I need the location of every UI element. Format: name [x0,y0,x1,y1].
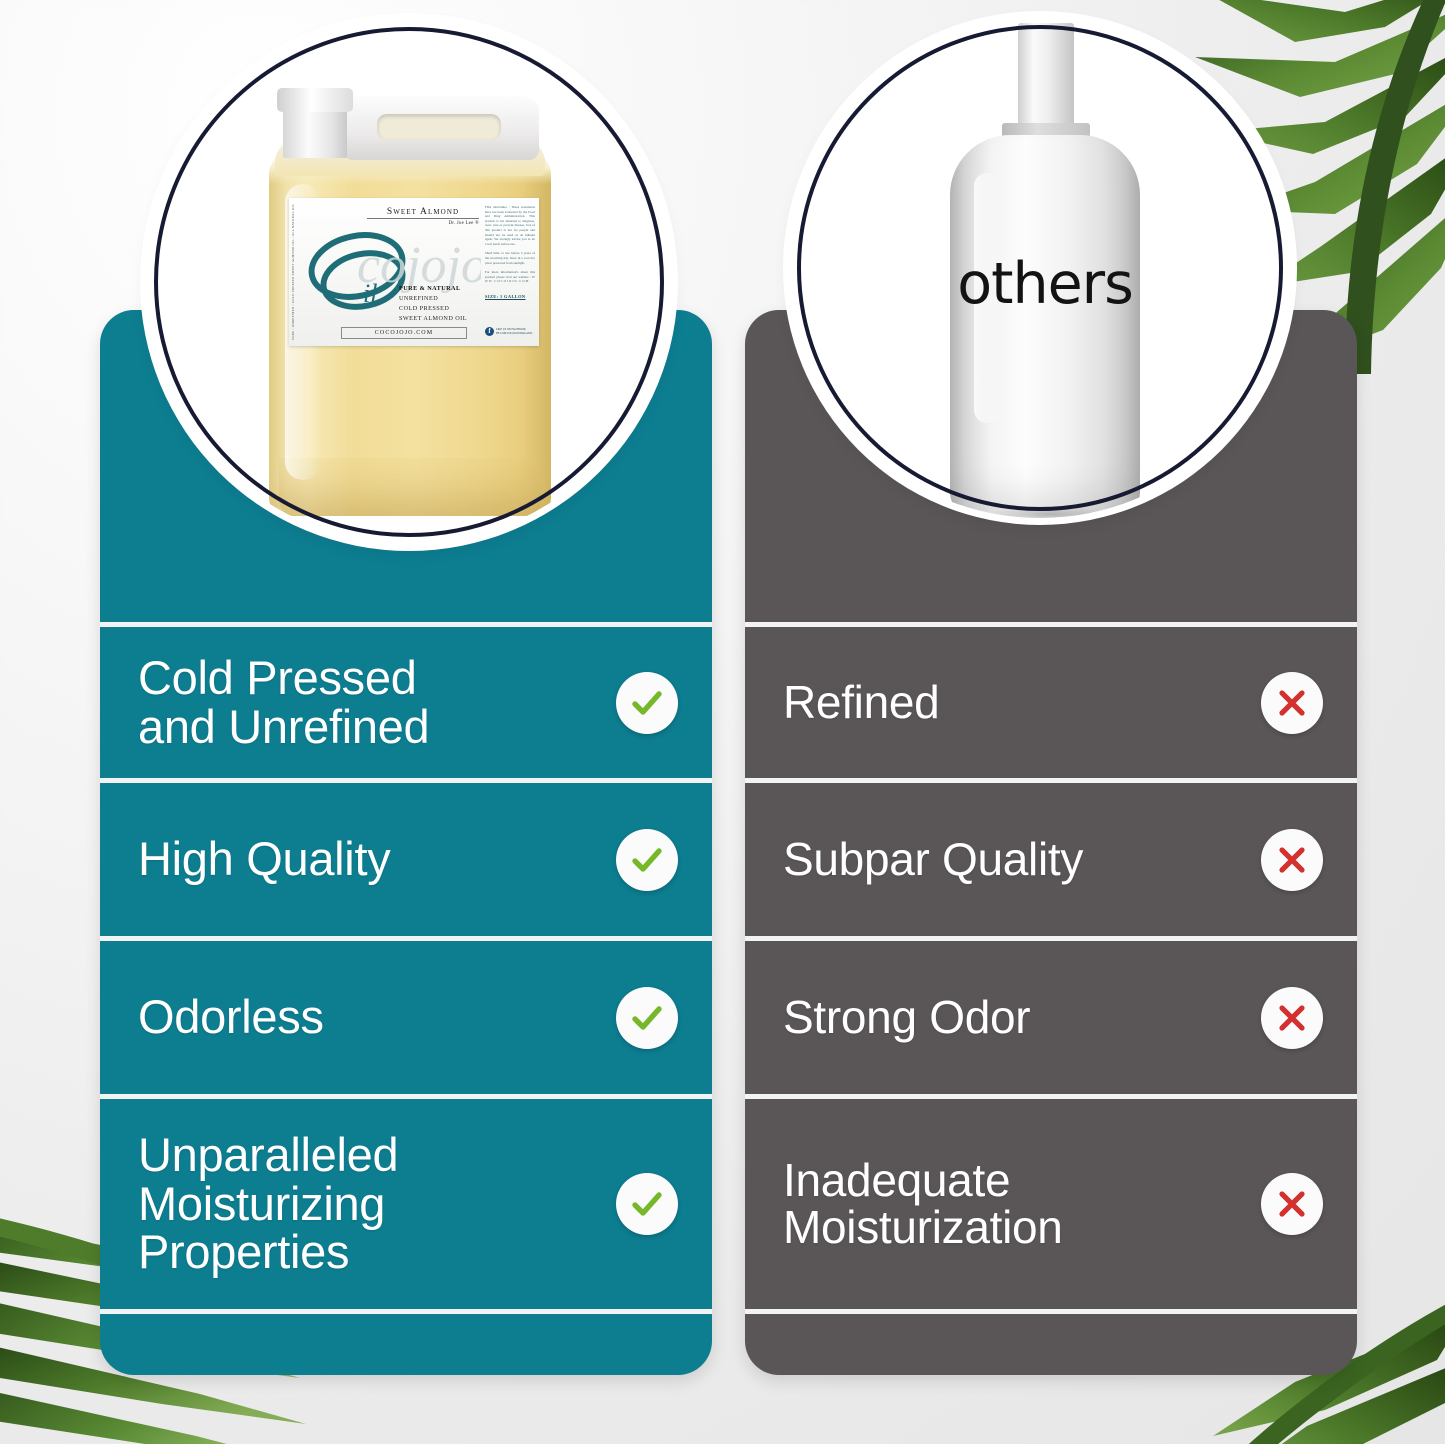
bottle-shadow [990,506,1108,518]
label-disclaimer-2: Shelf time: to use before 3 years of the… [485,251,535,265]
jug-cap [277,88,353,112]
label-title: Sweet Almond [367,207,479,219]
feature-label: Odorless [138,993,324,1041]
feature-list-others: Refined Subpar Quality Strong Odor [745,622,1357,1375]
check-icon [616,829,678,891]
feature-row: Subpar Quality [745,778,1357,936]
gallon-jug-image: PURE / UNREFINED / COLD PRESSED SWEET AL… [269,88,551,516]
check-icon [616,987,678,1049]
feature-label: Cold Pressed and Unrefined [138,654,429,751]
label-disclaimer-block: FDA disclaimer : These statements have n… [485,205,535,289]
feature-list-cocojojo: Cold Pressed and Unrefined High Quality … [100,622,712,1375]
card-footer-spacer [100,1309,712,1375]
label-website: COCOJOJO.COM [341,327,467,339]
feature-label: High Quality [138,835,390,883]
label-disclaimer-1: FDA disclaimer : These statements have n… [485,205,535,246]
cross-icon [1261,672,1323,734]
feature-row: Odorless [100,936,712,1094]
facebook-line-2: FB.COM/COCOJOJOORGANIC [496,332,533,336]
feature-row: Inadequate Moisturization [745,1094,1357,1309]
label-disclaimer-3: For more information's about this produc… [485,270,535,284]
label-claim-list: UNREFINED COLD PRESSED SWEET ALMOND OIL [399,294,467,324]
feature-row: Strong Odor [745,936,1357,1094]
label-size: SIZE: 1 GALLON [485,294,526,299]
feature-row: High Quality [100,778,712,936]
svg-text:il: il [363,279,377,308]
feature-label: Unparalleled Moisturizing Properties [138,1131,398,1276]
others-bottle-image: others [950,23,1140,518]
feature-label: Strong Odor [783,994,1030,1041]
photo-inner: PURE / UNREFINED / COLD PRESSED SWEET AL… [147,20,671,544]
bottle-cap [1018,23,1074,129]
feature-label: Inadequate Moisturization [783,1157,1063,1252]
product-photo-others: others [790,18,1290,518]
cross-icon [1261,1173,1323,1235]
jug-handle [343,96,539,160]
facebook-text: LIKE US ON FACEBOOK FB.COM/COCOJOJOORGAN… [496,328,533,335]
check-icon [616,1173,678,1235]
cross-icon [1261,829,1323,891]
facebook-icon: f [485,327,494,336]
photo-inner: others [790,18,1290,518]
feature-row: Unparalleled Moisturizing Properties [100,1094,712,1309]
card-footer-spacer [745,1309,1357,1375]
label-facebook: f LIKE US ON FACEBOOK FB.COM/COCOJOJOORG… [485,327,533,336]
feature-label: Refined [783,679,939,726]
feature-label: Subpar Quality [783,836,1083,883]
comparison-infographic: Cold Pressed and Unrefined High Quality … [0,0,1445,1444]
label-claims: PURE & NATURAL UNREFINED COLD PRESSED SW… [399,284,467,324]
check-icon [616,672,678,734]
others-label-text: others [950,251,1140,317]
feature-row: Cold Pressed and Unrefined [100,622,712,778]
product-label: PURE / UNREFINED / COLD PRESSED SWEET AL… [289,198,539,346]
feature-row: Refined [745,622,1357,778]
label-claim-primary: PURE & NATURAL [399,284,467,294]
cross-icon [1261,987,1323,1049]
product-photo-cocojojo: PURE / UNREFINED / COLD PRESSED SWEET AL… [147,20,671,544]
